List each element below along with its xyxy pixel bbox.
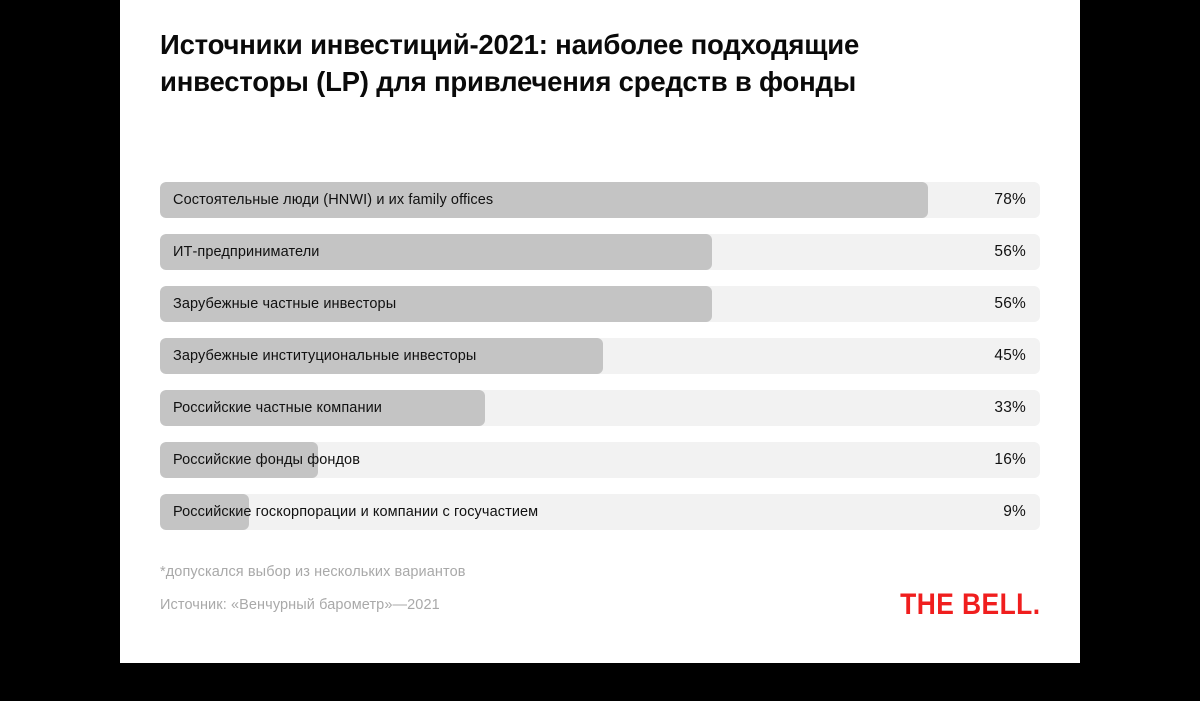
- bar-category-label: Зарубежные частные инвесторы: [173, 286, 396, 322]
- bar-category-label: Российские частные компании: [173, 390, 382, 426]
- bar-category-label: Российские фонды фондов: [173, 442, 360, 478]
- bar-chart: Состоятельные люди (HNWI) и их family of…: [160, 182, 1040, 530]
- page-title: Источники инвестиций-2021: наиболее подх…: [160, 26, 970, 100]
- bar-row: Состоятельные люди (HNWI) и их family of…: [160, 182, 1040, 218]
- bar-row: Зарубежные частные инвесторы 56%: [160, 286, 1040, 322]
- footnote-text: *допускался выбор из нескольких варианто…: [160, 564, 466, 580]
- bar-value-label: 9%: [1003, 494, 1026, 530]
- bar-category-label: Состоятельные люди (HNWI) и их family of…: [173, 182, 493, 218]
- bar-value-label: 16%: [994, 442, 1026, 478]
- bar-category-label: ИТ-предприниматели: [173, 234, 320, 270]
- bar-row: Российские фонды фондов 16%: [160, 442, 1040, 478]
- bar-value-label: 78%: [994, 182, 1026, 218]
- bar-row: Зарубежные институциональные инвесторы 4…: [160, 338, 1040, 374]
- bar-value-label: 56%: [994, 286, 1026, 322]
- bar-row: Российские госкорпорации и компании с го…: [160, 494, 1040, 530]
- bar-row: Российские частные компании 33%: [160, 390, 1040, 426]
- bar-value-label: 56%: [994, 234, 1026, 270]
- chart-card: Источники инвестиций-2021: наиболее подх…: [120, 0, 1080, 663]
- the-bell-logo: THE BELL.: [900, 588, 1040, 622]
- bar-value-label: 33%: [994, 390, 1026, 426]
- source-text: Источник: «Венчурный барометр»—2021: [160, 597, 440, 613]
- bar-row: ИТ-предприниматели 56%: [160, 234, 1040, 270]
- bar-category-label: Российские госкорпорации и компании с го…: [173, 494, 538, 530]
- chart-canvas: Источники инвестиций-2021: наиболее подх…: [0, 0, 1200, 701]
- bar-value-label: 45%: [994, 338, 1026, 374]
- bar-category-label: Зарубежные институциональные инвесторы: [173, 338, 476, 374]
